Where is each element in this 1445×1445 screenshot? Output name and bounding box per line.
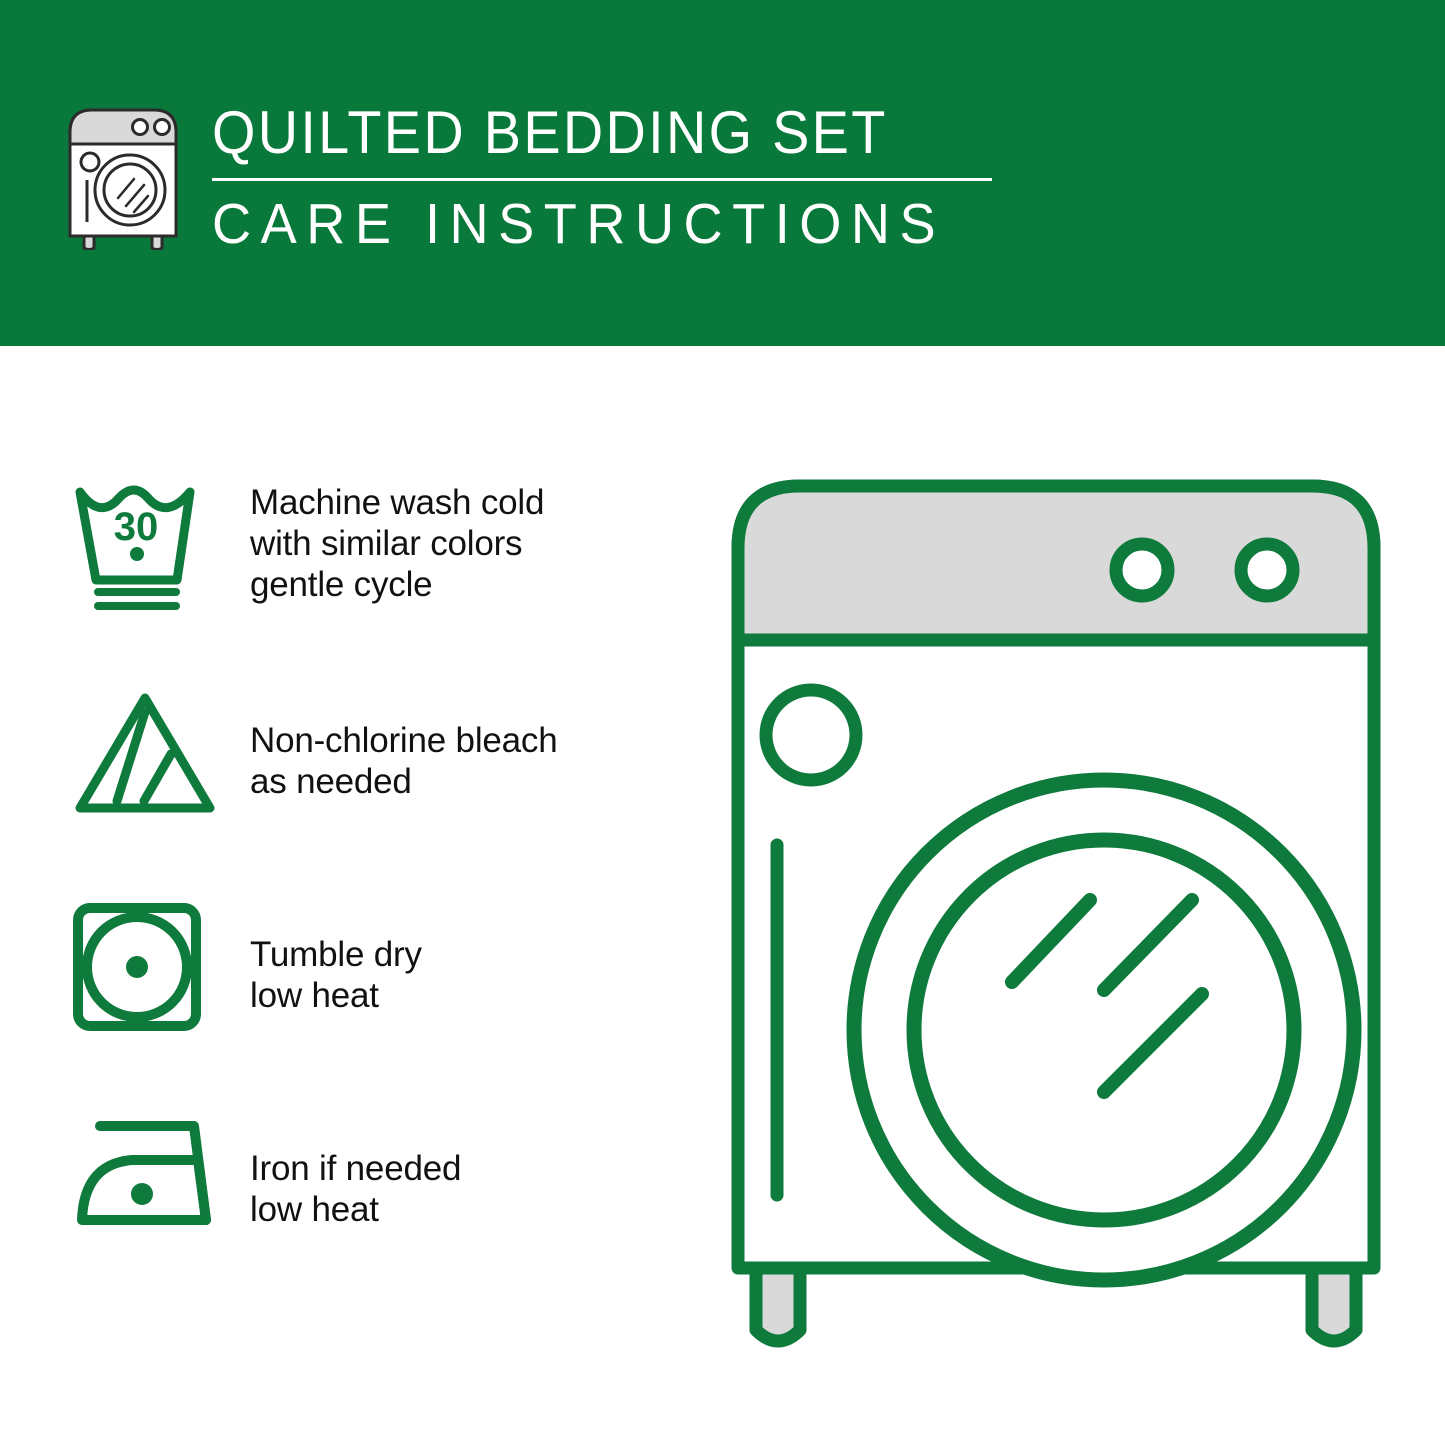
care-label-iron: Iron if needed low heat <box>250 1106 690 1230</box>
care-instruction-list: 30 Machine wash cold with similar colors… <box>70 470 690 1318</box>
washing-machine-icon <box>62 102 184 250</box>
title-divider <box>212 178 992 181</box>
header-title-group: QUILTED BEDDING SET CARE INSTRUCTIONS <box>212 98 1062 255</box>
care-icon-container <box>70 894 250 1034</box>
front-load-washing-machine-illustration <box>722 470 1422 1370</box>
header-content: QUILTED BEDDING SET CARE INSTRUCTIONS <box>62 98 1062 263</box>
care-icon-container <box>70 1106 250 1232</box>
care-row-bleach: Non-chlorine bleach as needed <box>70 682 690 894</box>
care-label-machine-wash: Machine wash cold with similar colors ge… <box>250 470 690 605</box>
iron-one-dot-icon <box>70 1112 220 1232</box>
care-row-iron: Iron if needed low heat <box>70 1106 690 1318</box>
page-subtitle: CARE INSTRUCTIONS <box>212 193 1020 255</box>
page-title: QUILTED BEDDING SET <box>212 100 1003 166</box>
bleach-triangle-icon <box>70 688 220 820</box>
indicator-circle <box>766 690 856 780</box>
wash-temperature-label: 30 <box>114 505 159 549</box>
care-label-tumble-dry: Tumble dry low heat <box>250 894 690 1016</box>
care-icon-container <box>70 682 250 820</box>
care-icon-container: 30 <box>70 470 250 618</box>
wash-tub-30-icon: 30 <box>70 476 216 618</box>
care-instructions-infographic: QUILTED BEDDING SET CARE INSTRUCTIONS 30 <box>0 0 1445 1445</box>
care-row-tumble-dry: Tumble dry low heat <box>70 894 690 1106</box>
care-row-machine-wash: 30 Machine wash cold with similar colors… <box>70 470 690 682</box>
control-knob-left <box>1116 544 1168 596</box>
tumble-dry-one-dot-icon <box>70 900 204 1034</box>
control-knob-right <box>1241 544 1293 596</box>
care-label-bleach: Non-chlorine bleach as needed <box>250 682 690 802</box>
header-banner: QUILTED BEDDING SET CARE INSTRUCTIONS <box>0 0 1445 346</box>
drum-inner-ring <box>914 840 1294 1220</box>
